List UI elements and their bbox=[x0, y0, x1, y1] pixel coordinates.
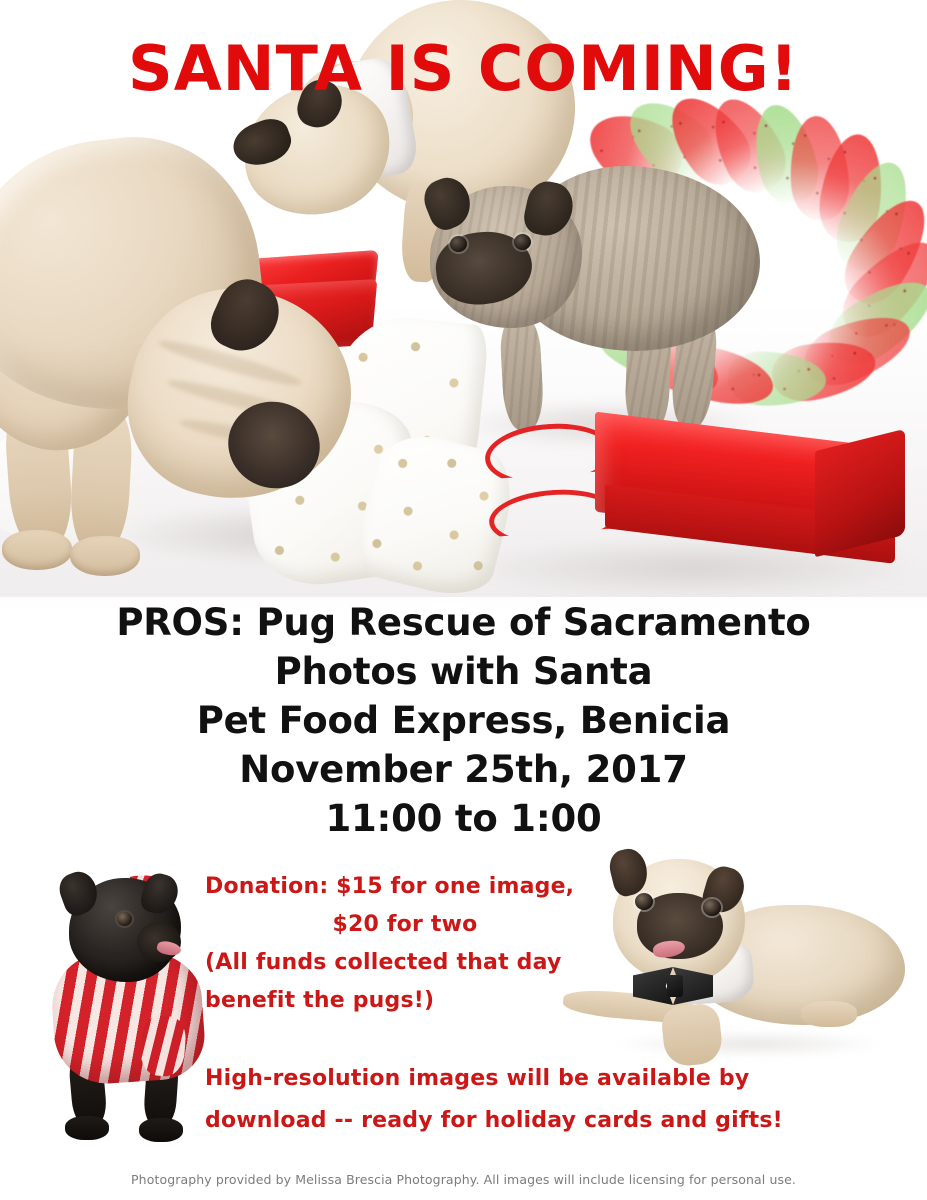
flyer-title: SANTA IS COMING! bbox=[0, 38, 927, 100]
pug-eye bbox=[450, 236, 467, 252]
pug-paw bbox=[139, 1118, 183, 1142]
event-location-line: Pet Food Express, Benicia bbox=[0, 696, 927, 745]
pug-paw bbox=[65, 1116, 109, 1140]
high-res-line-1: High-resolution images will be available… bbox=[205, 1058, 905, 1100]
pug-eye bbox=[514, 234, 531, 250]
event-details: PROS: Pug Rescue of Sacramento Photos wi… bbox=[0, 598, 927, 843]
bow-tie-knot bbox=[667, 975, 683, 997]
pug-fawn-digging bbox=[0, 140, 390, 570]
event-time-line: 11:00 to 1:00 bbox=[0, 794, 927, 843]
red-gift-bag bbox=[455, 418, 905, 578]
high-resolution-note: High-resolution images will be available… bbox=[205, 1058, 905, 1142]
flyer-page: SANTA IS COMING! PROS: Pug Rescue of Sac… bbox=[0, 0, 927, 1200]
donation-note-line-1: (All funds collected that day bbox=[205, 944, 645, 982]
event-date-line: November 25th, 2017 bbox=[0, 745, 927, 794]
donation-price-one: Donation: $15 for one image, bbox=[205, 868, 645, 906]
donation-price-two: $20 for two bbox=[205, 906, 645, 944]
donation-note-line-2: benefit the pugs!) bbox=[205, 982, 645, 1020]
pug-eye bbox=[117, 912, 132, 926]
donation-details: Donation: $15 for one image, $20 for two… bbox=[205, 868, 645, 1020]
pug-paw bbox=[2, 530, 72, 570]
pug-eye bbox=[703, 899, 721, 916]
floor-shadow bbox=[615, 1031, 885, 1057]
photography-credit: Photography provided by Melissa Brescia … bbox=[0, 1172, 927, 1187]
event-org-line: PROS: Pug Rescue of Sacramento bbox=[0, 598, 927, 647]
pug-paw bbox=[70, 536, 140, 576]
pug-paw bbox=[801, 1001, 857, 1027]
photo-pug-striped-sweater bbox=[45, 860, 220, 1150]
gift-bag-side bbox=[815, 429, 905, 557]
event-activity-line: Photos with Santa bbox=[0, 647, 927, 696]
high-res-line-2: download -- ready for holiday cards and … bbox=[205, 1100, 905, 1142]
